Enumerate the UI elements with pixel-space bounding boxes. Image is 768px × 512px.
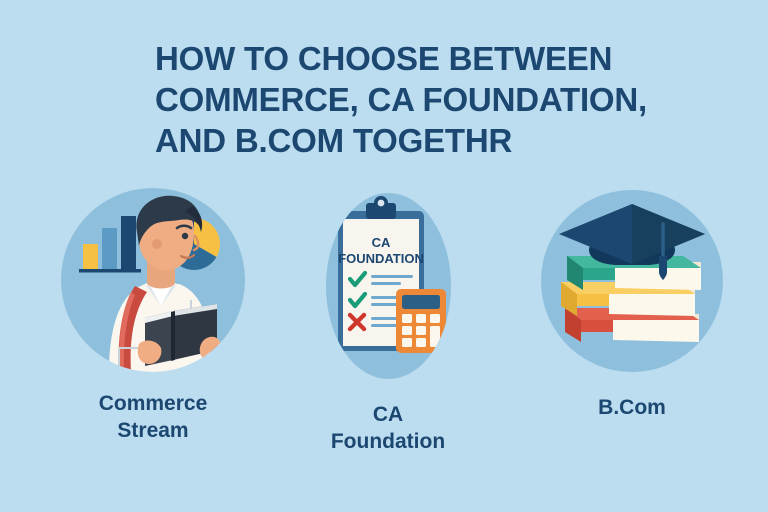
poster-canvas: HOW TO CHOOSE BETWEEN COMMERCE, CA FOUND…: [0, 0, 768, 512]
title-line-3: AND B.COM TOGETHR: [155, 120, 675, 161]
caption-ca-foundation: CA Foundation: [263, 401, 513, 455]
calculator-icon: [396, 289, 446, 353]
circle-backdrop-commerce: [61, 188, 245, 372]
page-title: HOW TO CHOOSE BETWEEN COMMERCE, CA FOUND…: [155, 38, 675, 161]
circle-backdrop-ca-foundation: CA FOUNDATION: [326, 193, 451, 379]
title-line-2: COMMERCE, CA FOUNDATION,: [155, 79, 675, 120]
column-ca-foundation: CA FOUNDATION: [263, 186, 513, 455]
column-commerce-stream: Commerce Stream: [28, 186, 278, 444]
circle-backdrop-bcom: [541, 190, 723, 372]
caption-line-1: B.Com: [507, 394, 757, 421]
student-reading-book-icon: [61, 188, 245, 372]
clipboard-title-line-2: FOUNDATION: [338, 251, 424, 266]
graduation-cap-books-icon: [541, 190, 723, 372]
clipboard-checklist-calculator-icon: CA FOUNDATION: [326, 193, 451, 379]
caption-line-2: Foundation: [263, 428, 513, 455]
clipboard-title-line-1: CA: [371, 235, 390, 250]
column-bcom: B.Com: [507, 186, 757, 421]
caption-line-1: CA: [263, 401, 513, 428]
caption-line-1: Commerce: [28, 390, 278, 417]
caption-line-2: Stream: [28, 417, 278, 444]
caption-commerce-stream: Commerce Stream: [28, 390, 278, 444]
caption-bcom: B.Com: [507, 394, 757, 421]
icon-columns: Commerce Stream CA FOUNDATION: [0, 186, 768, 486]
title-line-1: HOW TO CHOOSE BETWEEN: [155, 38, 675, 79]
